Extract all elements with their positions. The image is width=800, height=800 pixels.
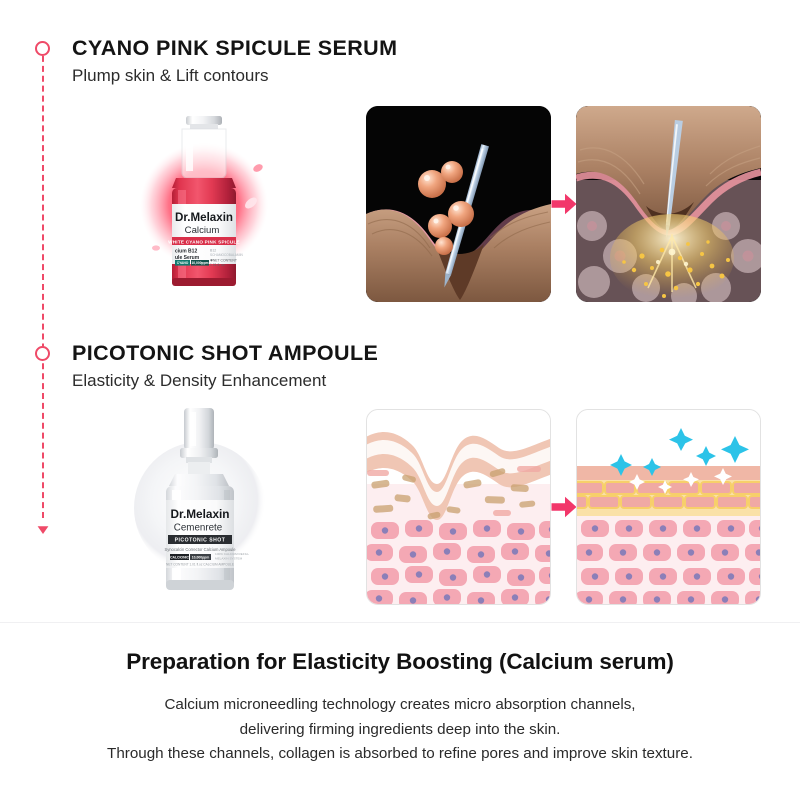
product-1-tag-left: CYANO: [177, 261, 189, 265]
section-2-subtitle: Elasticity & Density Enhancement: [72, 371, 378, 391]
product-1-brand: Dr.Melaxin: [175, 211, 233, 224]
product-1-net-value: 1.01 fl. oz.: [210, 263, 226, 267]
cyano-pink-spicule-serum-bottle: Dr.Melaxin Calcium WHITE CYANO PINK SPIC…: [120, 100, 290, 315]
picotonic-shot-ampoule-bottle: Dr.Melaxin Cemenrete PICOTONIC SHOT Syno…: [118, 398, 293, 616]
progress-timeline: [32, 40, 54, 532]
section-header-picotonic-shot-ampoule: PICOTONIC SHOT AMPOULE Elasticity & Dens…: [72, 341, 378, 392]
product-2-tag-left: CALCIONIC: [170, 556, 189, 560]
arrow-right-icon: [551, 496, 576, 518]
section-1-title: CYANO PINK SPICULE SERUM: [72, 36, 397, 61]
product-2-tag-right: 10,000ppm: [192, 556, 210, 560]
product-1-banner: WHITE CYANO PINK SPICULE: [168, 239, 240, 244]
arrow-right-icon: [551, 193, 576, 215]
pore-absorbing-golden-particles-after: [576, 106, 761, 302]
footer-line-2: delivering firming ingredients deep into…: [0, 718, 800, 743]
footer-title: Preparation for Elasticity Boosting (Cal…: [0, 648, 800, 676]
product-2-desc-right-2: MELAXIN SYSTEM: [215, 556, 243, 560]
timeline-dashed-rail: [42, 46, 44, 518]
section-1-subtitle: Plump skin & Lift contours: [72, 66, 397, 86]
product-1-tag-right: 10,000ppm: [191, 261, 208, 265]
transition-arrow-row-1: [551, 106, 576, 302]
pore-with-spicule-needle-before: [366, 106, 551, 302]
illustration-row-picotonic-shot: [366, 409, 761, 605]
product-2-desc-right-1: 100% CALCIUM REFILL: [215, 552, 249, 556]
transition-arrow-row-2: [551, 409, 576, 605]
firmed-collagen-skin-cross-section-after: [576, 409, 761, 605]
footer-line-1: Calcium microneedling technology creates…: [0, 693, 800, 718]
footer-body: Calcium microneedling technology creates…: [0, 693, 800, 767]
timeline-end-arrow-icon: [36, 522, 50, 534]
section-header-cyano-pink-spicule-serum: CYANO PINK SPICULE SERUM Plump skin & Li…: [72, 36, 397, 87]
product-1-line: Calcium: [185, 225, 220, 236]
step-2-marker-icon: [35, 346, 50, 361]
section-2-title: PICOTONIC SHOT AMPOULE: [72, 341, 378, 366]
illustration-row-cyano-pink-spicule: [366, 106, 761, 302]
step-1-marker-icon: [35, 41, 50, 56]
footer-description-block: Preparation for Elasticity Boosting (Cal…: [0, 648, 800, 767]
wrinkled-skin-cross-section-before: [366, 409, 551, 605]
product-1-desc-left-1: cium B12: [175, 249, 197, 255]
product-2-brand: Dr.Melaxin: [170, 507, 229, 521]
product-2-net-label: NET CONTENT 1.01 fl.oz CALCIUM AMPOULE: [166, 563, 234, 567]
product-2-line: Cemenrete: [174, 523, 223, 534]
section-divider: [0, 622, 800, 623]
product-2-banner: PICOTONIC SHOT: [175, 538, 226, 544]
footer-line-3: Through these channels, collagen is abso…: [0, 742, 800, 767]
product-1-desc-right-2: SCHAMOCOBALAMIN: [210, 253, 243, 257]
product-1-desc-right-1: B12: [210, 249, 216, 253]
product-1-net-label: ✱NET CONTENT: [210, 259, 237, 263]
